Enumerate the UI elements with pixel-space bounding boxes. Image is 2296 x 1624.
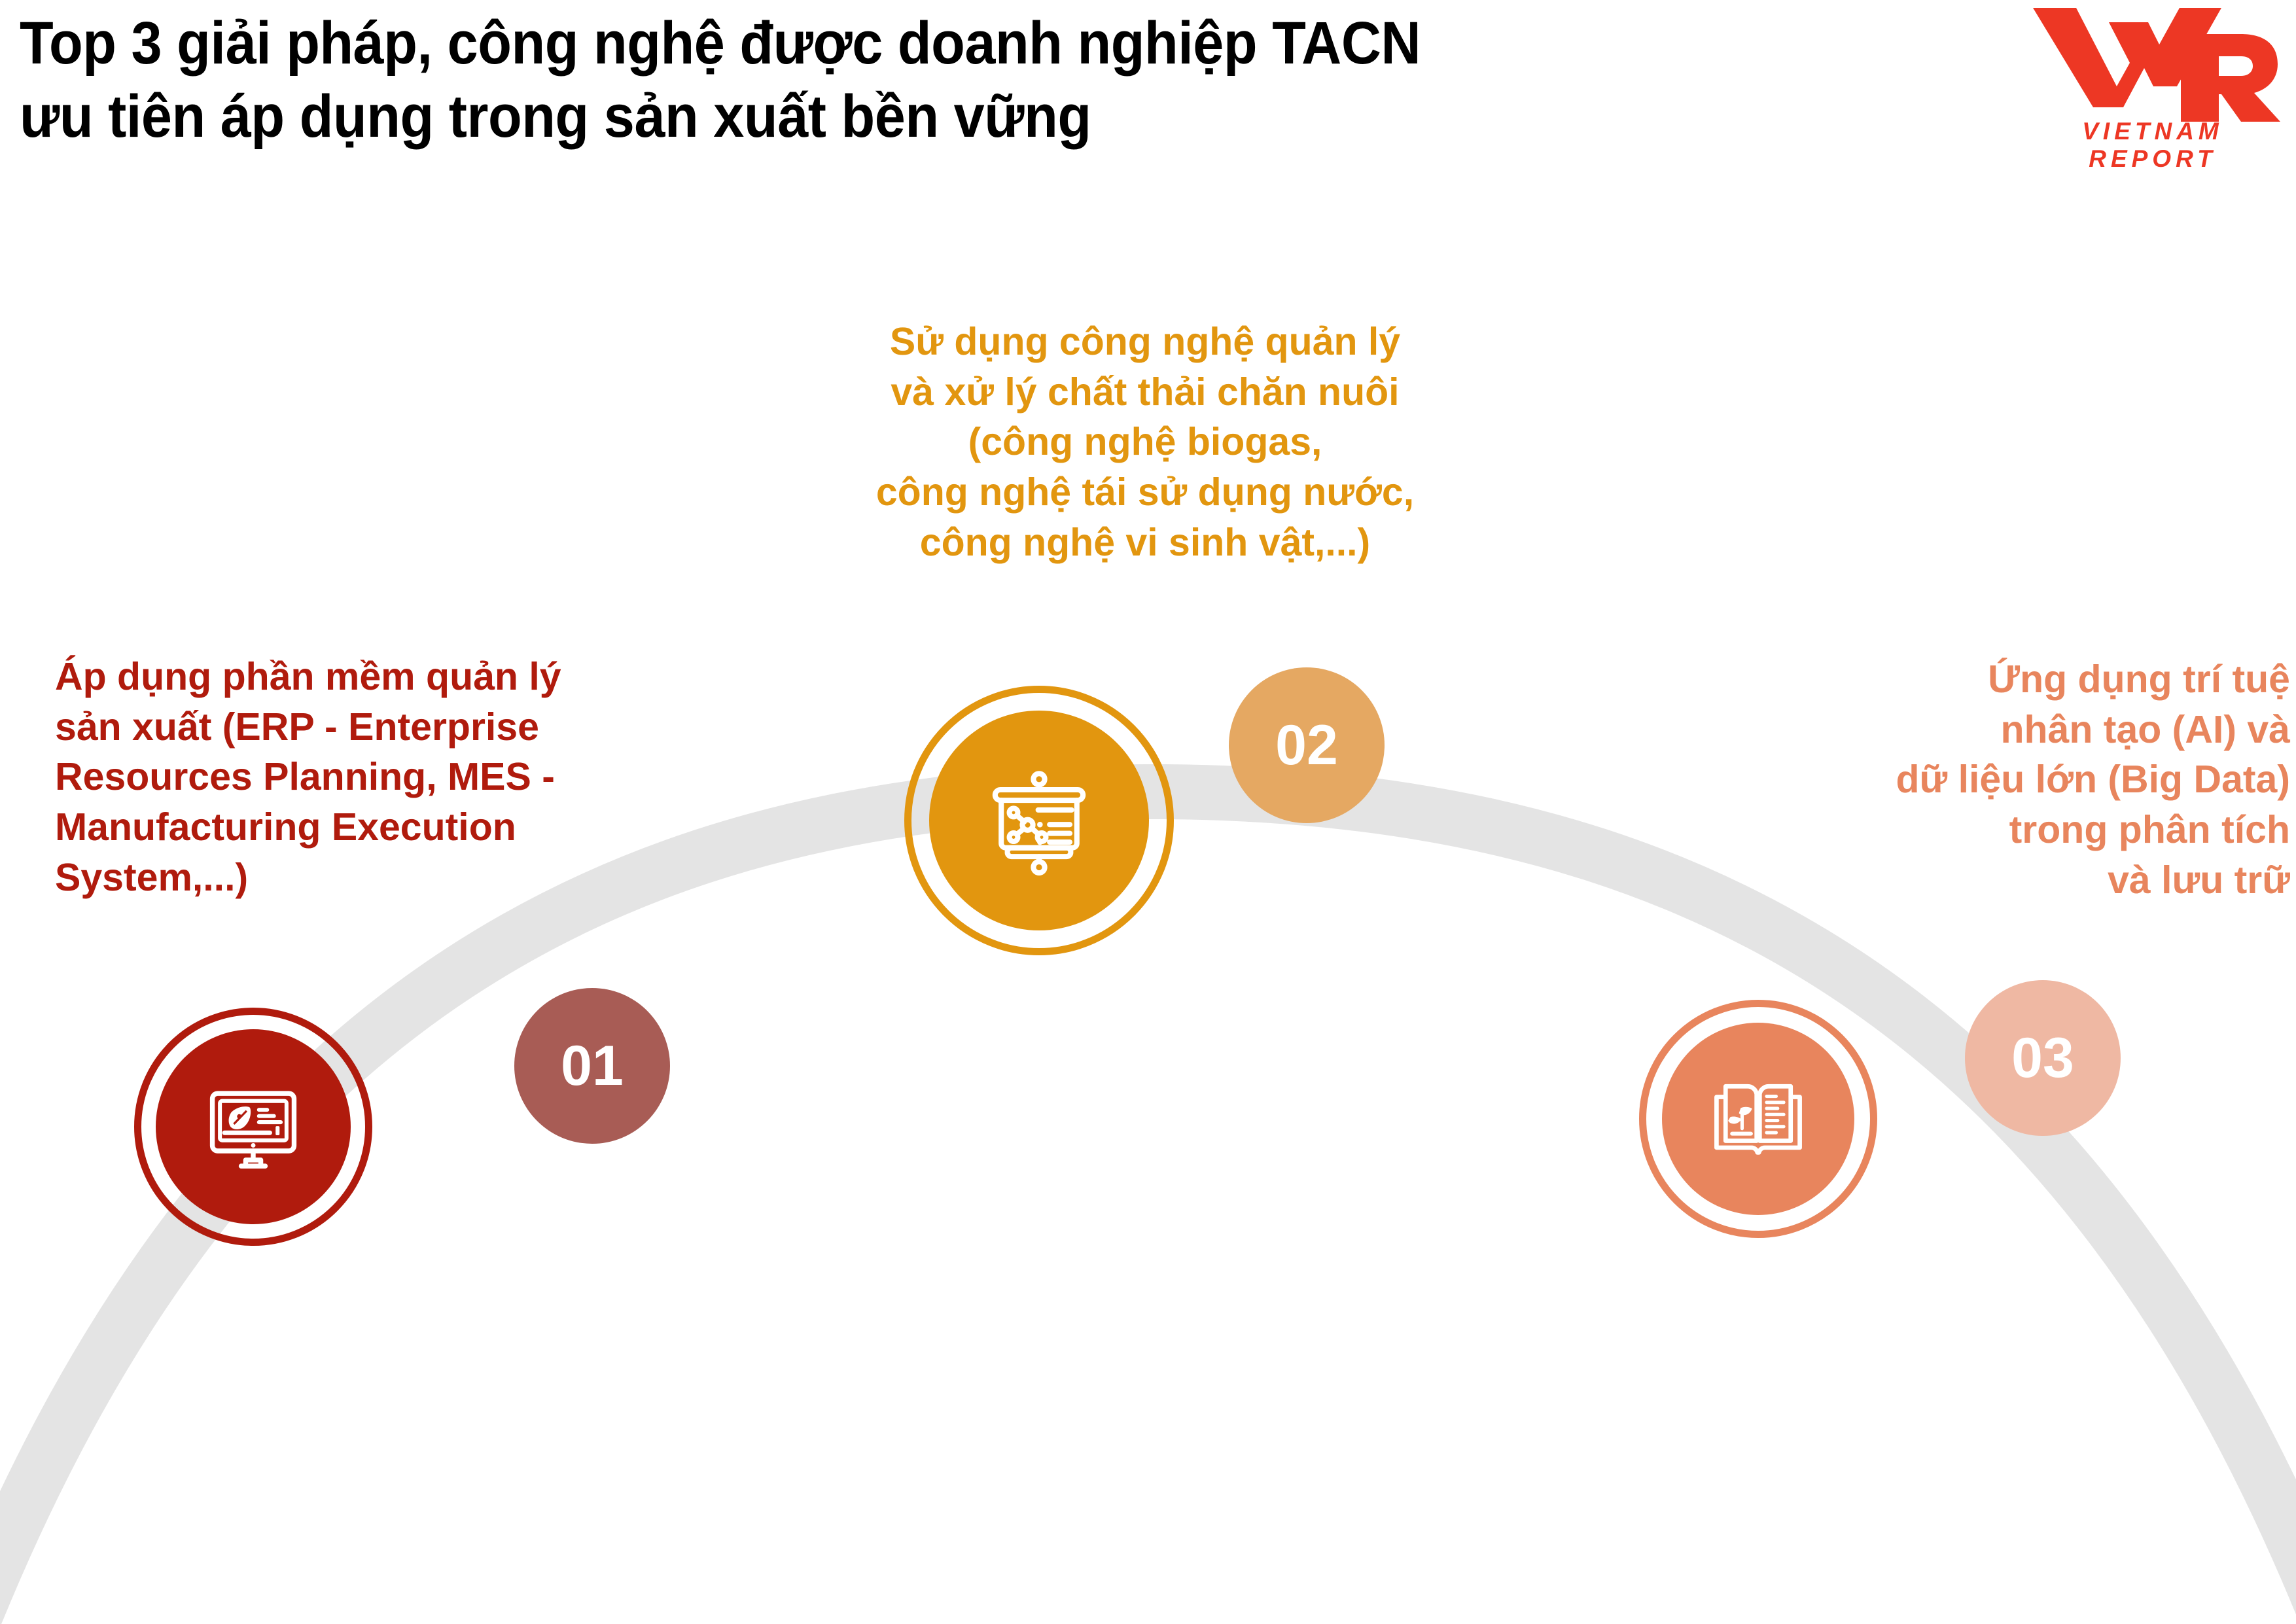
vnr-logo-wordmark: VIETNAM REPORT	[2030, 118, 2275, 173]
page-title: Top 3 giải pháp, công nghệ được doanh ng…	[20, 7, 1814, 153]
step-3-caption: Ứng dụng trí tuệ nhân tạo (AI) và dữ liệ…	[1740, 654, 2290, 905]
step-1-number: 01	[561, 1034, 624, 1099]
step-1-node[interactable]: 01	[0, 962, 694, 1328]
step-3-badge: 03	[1965, 980, 2121, 1136]
monitor-leaf-icon	[205, 1078, 302, 1175]
vnr-logo: VIETNAM REPORT	[2025, 5, 2280, 156]
step-2-badge: 02	[1229, 667, 1385, 823]
header: Top 3 giải pháp, công nghệ được doanh ng…	[0, 0, 2296, 196]
step-2-caption: Sử dụng công nghệ quản lý và xử lý chất …	[772, 317, 1518, 567]
step-1-badge: 01	[514, 988, 670, 1144]
step-2-node[interactable]: 02	[870, 641, 1564, 1047]
step-2-number: 02	[1275, 713, 1338, 778]
open-book-sprout-icon	[1710, 1070, 1807, 1167]
step-3-node[interactable]: 03	[1603, 962, 2296, 1328]
vnr-logo-mark	[2025, 5, 2280, 123]
infographic-canvas: Top 3 giải pháp, công nghệ được doanh ng…	[0, 0, 2296, 1624]
presentation-chart-icon	[983, 764, 1095, 877]
step-1-caption: Áp dụng phần mềm quản lý sản xuất (ERP -…	[55, 652, 644, 902]
step-3-number: 03	[2011, 1026, 2074, 1091]
